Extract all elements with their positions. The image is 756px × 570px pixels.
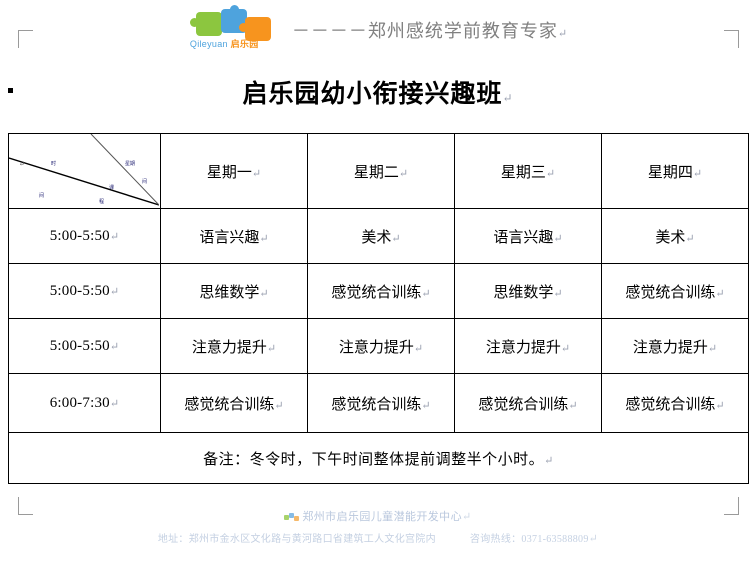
paragraph-mark: ↵ — [708, 343, 717, 355]
class-r1c4: 美术↵ — [602, 209, 749, 264]
class-r1c3-text: 语言兴趣 — [493, 230, 553, 246]
paragraph-mark: ↵ — [553, 233, 562, 245]
class-r2c1: 思维数学↵ — [161, 264, 308, 319]
class-r4c2: 感觉统合训练↵ — [308, 374, 455, 433]
column-header-tuesday: 星期二↵ — [308, 134, 455, 209]
class-r1c2: 美术↵ — [308, 209, 455, 264]
corner-label-mid: 课 — [109, 184, 114, 191]
puzzle-piece-green — [196, 12, 222, 36]
class-r2c4-text: 感觉统合训练 — [625, 285, 715, 301]
table-header-row: ↵ 时 星期 间 课 间 程 星期一↵ 星期二↵ 星期三↵ — [9, 134, 749, 209]
logo-latin-text: Qileyuan — [190, 39, 228, 49]
corner-label-small1: 时 — [51, 160, 56, 167]
class-r3c1: 注意力提升↵ — [161, 319, 308, 374]
paragraph-mark: ↵ — [546, 168, 555, 180]
class-r2c2-text: 感觉统合训练 — [331, 285, 421, 301]
paragraph-mark: ↵ — [267, 343, 276, 355]
paragraph-mark-footer-contact: ↵ — [589, 533, 599, 545]
class-r3c3: 注意力提升↵ — [455, 319, 602, 374]
footer-hotline: 咨询热线：0371-63588809 — [470, 534, 589, 545]
time-slot-1: 5:00-5:50↵ — [9, 209, 161, 264]
paragraph-mark-footer-center: ↵ — [462, 511, 472, 523]
header-tagline-text: －－－－郑州感统学前教育专家 — [292, 21, 558, 41]
class-r4c4: 感觉统合训练↵ — [602, 374, 749, 433]
column-header-monday-text: 星期一 — [207, 165, 252, 181]
column-header-thursday: 星期四↵ — [602, 134, 749, 209]
time-slot-4: 6:00-7:30↵ — [9, 374, 161, 433]
time-slot-2-text: 5:00-5:50 — [50, 283, 110, 299]
schedule-note-text: 备注：冬令时，下午时间整体提前调整半个小时。 — [203, 452, 544, 468]
paragraph-mark: ↵ — [693, 168, 702, 180]
diagonal-header-cell: ↵ 时 星期 间 课 间 程 — [9, 134, 161, 209]
time-slot-4-text: 6:00-7:30 — [50, 395, 110, 411]
footer-address: 地址：郑州市金水区文化路与黄河路口省建筑工人文化宫院内 — [158, 534, 436, 545]
class-r4c2-text: 感觉统合训练 — [331, 397, 421, 413]
column-header-thursday-text: 星期四 — [648, 165, 693, 181]
class-r3c4-text: 注意力提升 — [633, 340, 708, 356]
paragraph-mark: ↵ — [259, 288, 268, 300]
corner-label-top: 星期 — [125, 160, 135, 167]
paragraph-mark: ↵ — [421, 288, 430, 300]
paragraph-mark-title: ↵ — [502, 91, 513, 105]
class-r1c3: 语言兴趣↵ — [455, 209, 602, 264]
time-slot-3-text: 5:00-5:50 — [50, 338, 110, 354]
column-header-wednesday-text: 星期三 — [501, 165, 546, 181]
class-r1c2-text: 美术 — [361, 230, 391, 246]
diagonal-split-lines — [9, 134, 159, 206]
logo-wordmark: Qileyuan 启乐园 — [190, 37, 284, 50]
footer-contact-line: 地址：郑州市金水区文化路与黄河路口省建筑工人文化宫院内咨询热线：0371-635… — [0, 530, 756, 545]
corner-paragraph-mark: ↵ — [19, 160, 25, 168]
table-row: 5:00-5:50↵ 注意力提升↵ 注意力提升↵ 注意力提升↵ 注意力提升↵ — [9, 319, 749, 374]
column-header-tuesday-text: 星期二 — [354, 165, 399, 181]
paragraph-mark: ↵ — [421, 400, 430, 412]
paragraph-mark: ↵ — [685, 233, 694, 245]
logo-chinese-text: 启乐园 — [231, 39, 259, 49]
qileyuan-logo: Qileyuan 启乐园 — [188, 9, 284, 51]
document-header: Qileyuan 启乐园 －－－－郑州感统学前教育专家↵ — [0, 6, 756, 54]
table-row: 6:00-7:30↵ 感觉统合训练↵ 感觉统合训练↵ 感觉统合训练↵ 感觉统合训… — [9, 374, 749, 433]
paragraph-mark: ↵ — [110, 341, 119, 353]
schedule-table: ↵ 时 星期 间 课 间 程 星期一↵ 星期二↵ 星期三↵ — [8, 133, 749, 484]
paragraph-mark: ↵ — [110, 231, 119, 243]
paragraph-mark: ↵ — [399, 168, 408, 180]
header-tagline: －－－－郑州感统学前教育专家↵ — [292, 17, 568, 43]
class-r4c3: 感觉统合训练↵ — [455, 374, 602, 433]
class-r3c2: 注意力提升↵ — [308, 319, 455, 374]
table-row: 5:00-5:50↵ 思维数学↵ 感觉统合训练↵ 思维数学↵ 感觉统合训练↵ — [9, 264, 749, 319]
class-r2c2: 感觉统合训练↵ — [308, 264, 455, 319]
class-r4c1: 感觉统合训练↵ — [161, 374, 308, 433]
paragraph-mark: ↵ — [110, 398, 119, 410]
class-r1c1-text: 语言兴趣 — [199, 230, 259, 246]
class-r4c4-text: 感觉统合训练 — [625, 397, 715, 413]
footer-logo-square-orange — [294, 516, 299, 521]
paragraph-mark-note: ↵ — [544, 455, 554, 467]
class-r2c4: 感觉统合训练↵ — [602, 264, 749, 319]
paragraph-mark: ↵ — [414, 343, 423, 355]
paragraph-mark: ↵ — [568, 400, 577, 412]
class-r3c2-text: 注意力提升 — [339, 340, 414, 356]
time-slot-1-text: 5:00-5:50 — [50, 228, 110, 244]
corner-label-small3: 间 — [39, 192, 44, 199]
class-r2c3: 思维数学↵ — [455, 264, 602, 319]
paragraph-mark: ↵ — [252, 168, 261, 180]
page-title-text: 启乐园幼小衔接兴趣班 — [242, 81, 502, 108]
paragraph-mark-header: ↵ — [558, 28, 568, 40]
class-r4c1-text: 感觉统合训练 — [184, 397, 274, 413]
schedule-note-cell: 备注：冬令时，下午时间整体提前调整半个小时。↵ — [9, 433, 749, 484]
column-header-wednesday: 星期三↵ — [455, 134, 602, 209]
class-r3c1-text: 注意力提升 — [192, 340, 267, 356]
class-r2c3-text: 思维数学 — [493, 285, 553, 301]
paragraph-mark: ↵ — [259, 233, 268, 245]
time-slot-2: 5:00-5:50↵ — [9, 264, 161, 319]
class-r3c4: 注意力提升↵ — [602, 319, 749, 374]
footer-center-name: 郑州市启乐园儿童潜能开发中心 — [302, 511, 462, 523]
document-page: Qileyuan 启乐园 －－－－郑州感统学前教育专家↵ 启乐园幼小衔接兴趣班↵… — [0, 0, 756, 570]
paragraph-mark: ↵ — [274, 400, 283, 412]
paragraph-mark: ↵ — [391, 233, 400, 245]
footer-center-line: 郑州市启乐园儿童潜能开发中心↵ — [0, 508, 756, 524]
class-r3c3-text: 注意力提升 — [486, 340, 561, 356]
table-note-row: 备注：冬令时，下午时间整体提前调整半个小时。↵ — [9, 433, 749, 484]
footer-logo-icon — [284, 513, 300, 521]
paragraph-mark: ↵ — [553, 288, 562, 300]
class-r1c4-text: 美术 — [655, 230, 685, 246]
paragraph-mark: ↵ — [110, 286, 119, 298]
paragraph-mark: ↵ — [561, 343, 570, 355]
paragraph-mark: ↵ — [715, 400, 724, 412]
column-header-monday: 星期一↵ — [161, 134, 308, 209]
class-r2c1-text: 思维数学 — [199, 285, 259, 301]
table-row: 5:00-5:50↵ 语言兴趣↵ 美术↵ 语言兴趣↵ 美术↵ — [9, 209, 749, 264]
paragraph-mark: ↵ — [715, 288, 724, 300]
class-r4c3-text: 感觉统合训练 — [478, 397, 568, 413]
page-title: 启乐园幼小衔接兴趣班↵ — [0, 74, 756, 110]
corner-label-small2: 间 — [142, 178, 147, 185]
corner-label-right: 程 — [99, 198, 104, 205]
class-r1c1: 语言兴趣↵ — [161, 209, 308, 264]
time-slot-3: 5:00-5:50↵ — [9, 319, 161, 374]
document-footer: 郑州市启乐园儿童潜能开发中心↵ 地址：郑州市金水区文化路与黄河路口省建筑工人文化… — [0, 508, 756, 545]
